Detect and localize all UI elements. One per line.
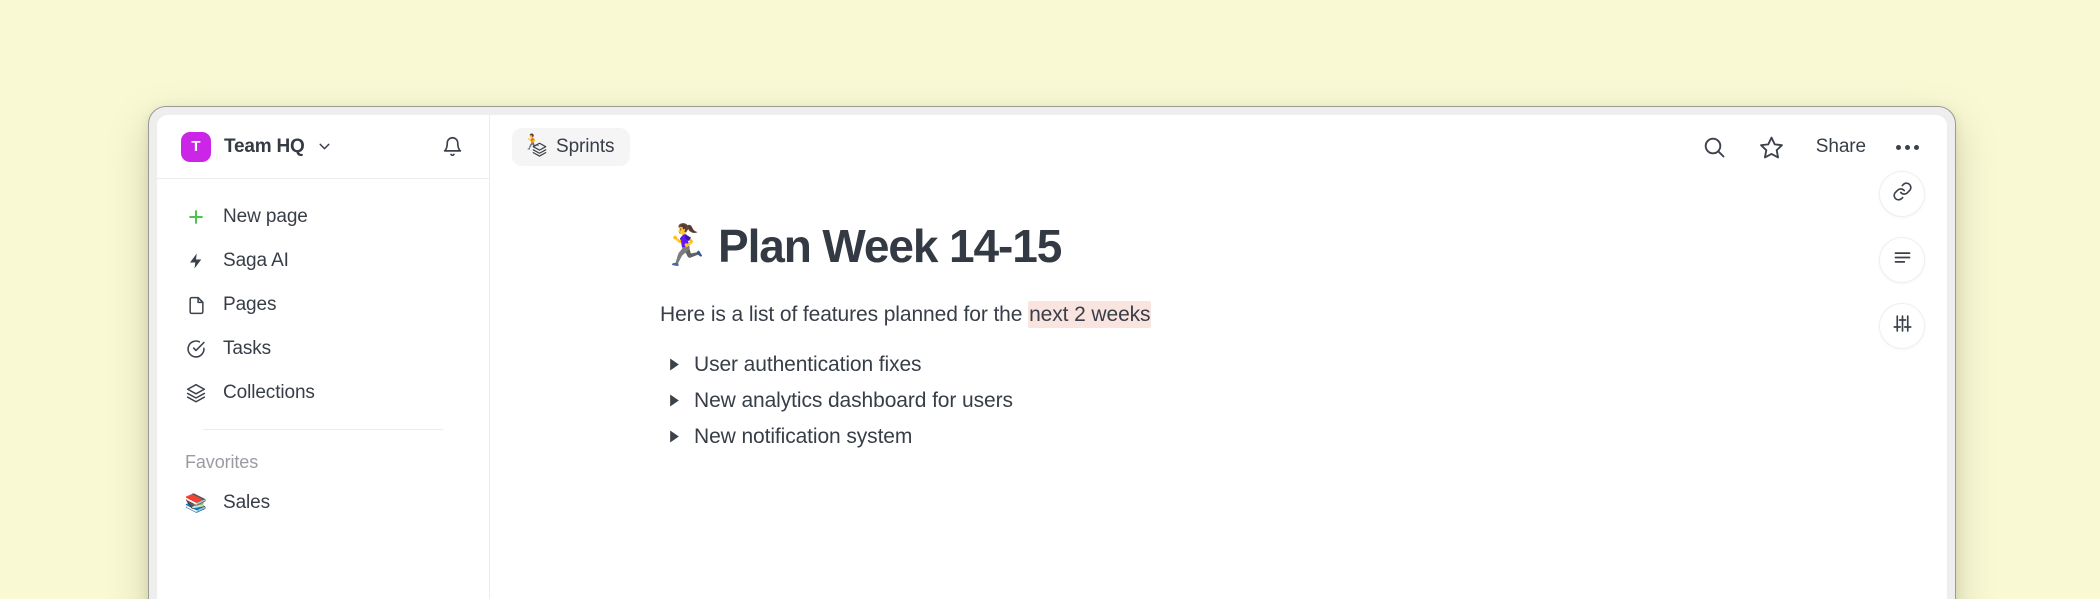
sidebar-item-new-page[interactable]: New page (175, 195, 471, 239)
workspace-avatar: T (181, 132, 211, 162)
caret-right-icon[interactable] (668, 394, 694, 407)
plus-icon (185, 207, 207, 227)
topbar-actions: Share (1698, 131, 1921, 163)
sidebar: T Team HQ (157, 115, 490, 599)
toggle-label: New notification system (694, 425, 912, 449)
toggle-label: User authentication fixes (694, 353, 921, 377)
highlighted-text: next 2 weeks (1028, 301, 1151, 328)
sidebar-item-label: Collections (223, 382, 315, 404)
sidebar-nav: New page Saga AI (157, 179, 489, 430)
sidebar-item-sales[interactable]: 📚 Sales (175, 481, 471, 525)
favorites-section-label: Favorites (157, 430, 489, 481)
runner-woman-icon: 🏃‍♀️ (660, 226, 718, 266)
star-icon[interactable] (1756, 131, 1788, 163)
layers-icon (185, 383, 207, 403)
share-button[interactable]: Share (1814, 132, 1868, 162)
lightning-bolt-icon (185, 252, 207, 270)
toggle-list-item[interactable]: New analytics dashboard for users (668, 383, 1947, 419)
caret-right-icon[interactable] (668, 430, 694, 443)
search-icon[interactable] (1698, 131, 1730, 163)
copy-link-button[interactable] (1879, 171, 1925, 217)
ellipsis-icon[interactable] (1894, 137, 1921, 158)
breadcrumb-sprints[interactable]: 🏃 Sprints (512, 128, 630, 166)
sidebar-item-label: New page (223, 206, 308, 228)
sliders-icon (1892, 313, 1913, 339)
toggle-label: New analytics dashboard for users (694, 389, 1013, 413)
settings-button[interactable] (1879, 303, 1925, 349)
breadcrumb-label: Sprints (556, 136, 614, 158)
page-title-text[interactable]: Plan Week 14-15 (718, 219, 1061, 273)
app-window: T Team HQ (148, 106, 1956, 599)
main-area: 🏃 Sprints (490, 115, 1947, 599)
app-surface: T Team HQ (157, 115, 1947, 599)
sidebar-item-label: Tasks (223, 338, 271, 360)
sidebar-item-label: Pages (223, 294, 276, 316)
sidebar-item-pages[interactable]: Pages (175, 283, 471, 327)
sidebar-item-label: Sales (223, 492, 270, 514)
paragraph-text: Here is a list of features planned for t… (660, 303, 1028, 326)
link-icon (1892, 181, 1913, 207)
workspace-name: Team HQ (224, 136, 305, 158)
circle-check-icon (185, 339, 207, 359)
intro-paragraph[interactable]: Here is a list of features planned for t… (660, 299, 1947, 331)
toggle-list-item[interactable]: User authentication fixes (668, 347, 1947, 383)
topbar: 🏃 Sprints (490, 115, 1947, 179)
sidebar-item-collections[interactable]: Collections (175, 371, 471, 415)
sprints-icon: 🏃 (523, 136, 549, 158)
sidebar-item-label: Saga AI (223, 250, 289, 272)
sidebar-item-tasks[interactable]: Tasks (175, 327, 471, 371)
chevron-down-icon[interactable] (316, 138, 333, 155)
sidebar-item-saga-ai[interactable]: Saga AI (175, 239, 471, 283)
favorites-list: 📚 Sales (157, 481, 489, 525)
layers-icon (532, 142, 547, 162)
books-icon: 📚 (185, 494, 207, 512)
sidebar-header: T Team HQ (157, 115, 489, 179)
caret-right-icon[interactable] (668, 358, 694, 371)
page-title: 🏃‍♀️ Plan Week 14-15 (660, 219, 1947, 273)
floating-action-rail (1879, 171, 1925, 349)
outline-button[interactable] (1879, 237, 1925, 283)
document-body: 🏃‍♀️ Plan Week 14-15 Here is a list of f… (490, 179, 1947, 599)
bell-icon[interactable] (437, 132, 467, 162)
toggle-list-item[interactable]: New notification system (668, 419, 1947, 455)
text-lines-icon (1892, 247, 1913, 273)
document-icon (185, 296, 207, 315)
